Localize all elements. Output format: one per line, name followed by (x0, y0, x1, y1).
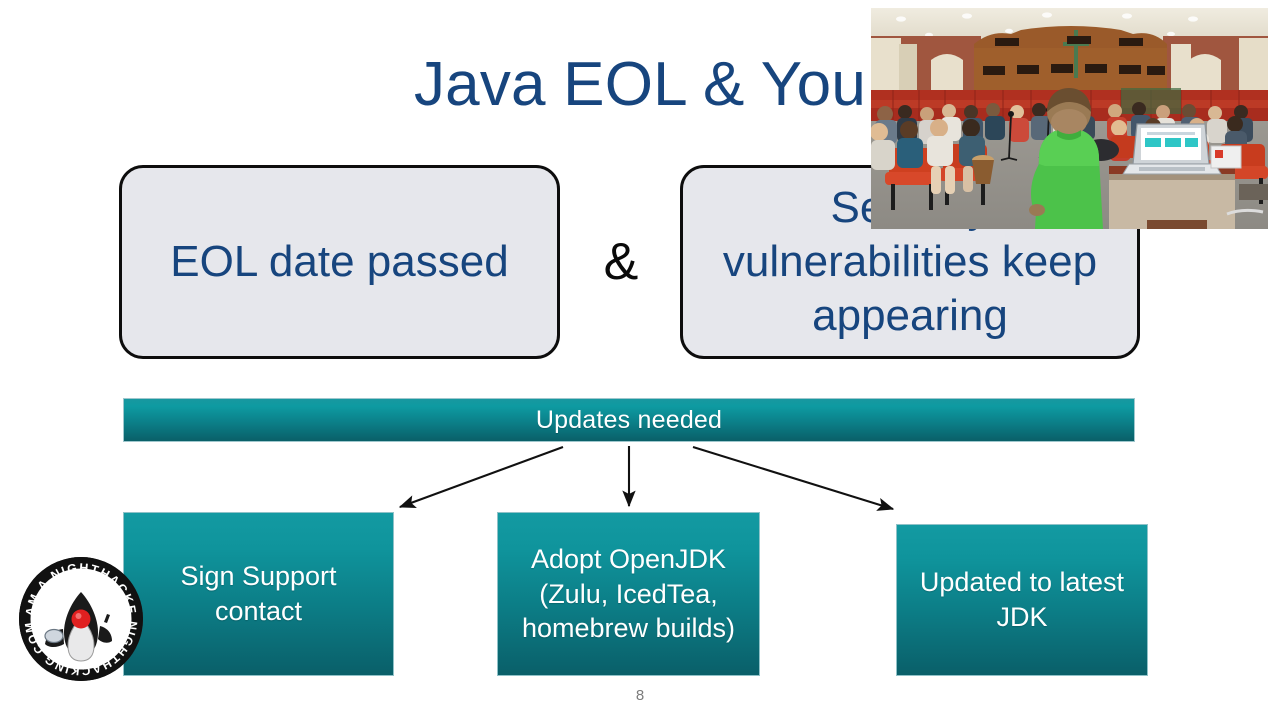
video-overlay-scene (871, 8, 1268, 229)
action-box-adopt-openjdk: Adopt OpenJDK (Zulu, IcedTea, homebrew b… (497, 512, 760, 676)
action-label-2: Updated to latest JDK (907, 565, 1137, 634)
nighthacking-logo: I AM A NIGHTHACKER NIGHTHACKING.COM (18, 556, 144, 682)
condition-box-eol-date: EOL date passed (119, 165, 560, 359)
video-overlay[interactable] (871, 8, 1268, 229)
condition-left-label: EOL date passed (170, 235, 508, 289)
slide-canvas: Java EOL & You EOL date passed & Securit… (0, 0, 1280, 720)
arrow-to-updated-latest-jdk (693, 447, 893, 509)
action-label-1: Adopt OpenJDK (Zulu, IcedTea, homebrew b… (508, 542, 749, 646)
conjunction-ampersand: & (581, 232, 661, 292)
page-number: 8 (0, 687, 1280, 704)
updates-needed-banner: Updates needed (123, 398, 1135, 442)
action-box-updated-latest-jdk: Updated to latest JDK (896, 524, 1148, 676)
updates-needed-label: Updates needed (536, 406, 722, 435)
action-label-0: Sign Support contact (134, 559, 383, 628)
action-box-sign-support-contact: Sign Support contact (123, 512, 394, 676)
arrow-to-sign-support (400, 447, 563, 507)
